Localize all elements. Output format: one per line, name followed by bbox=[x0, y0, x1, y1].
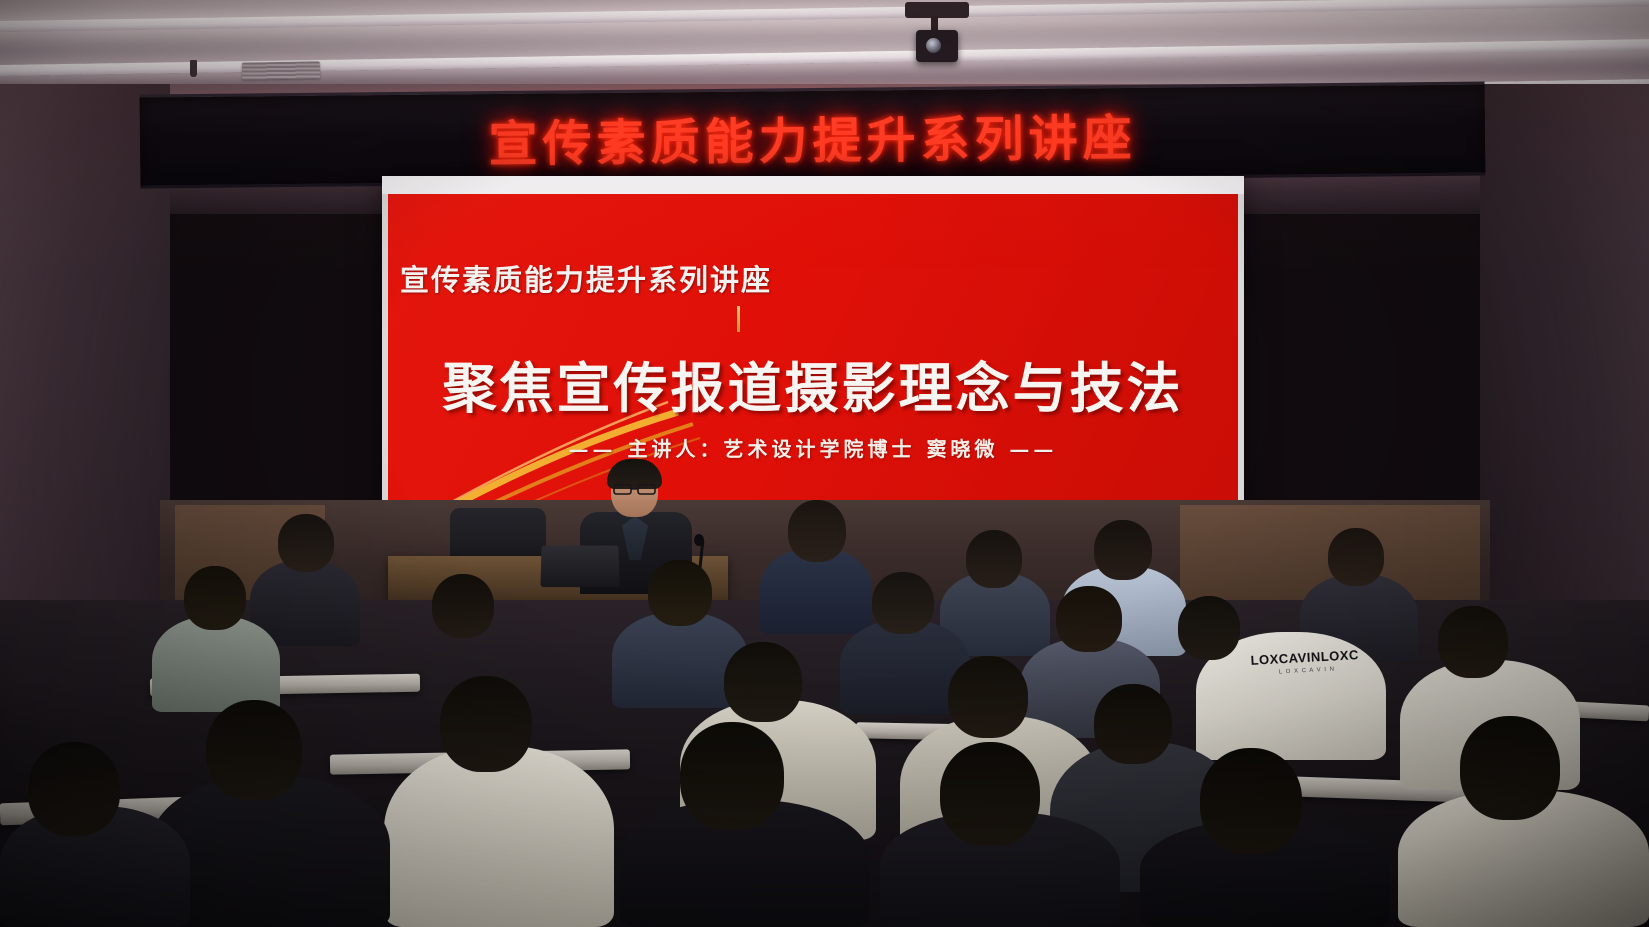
slide-divider bbox=[737, 306, 740, 332]
slide-title: 聚焦宣传报道摄影理念与技法 bbox=[388, 344, 1238, 423]
slide-presenter-line: —— 主讲人：艺术设计学院博士 窦晓微 —— bbox=[388, 433, 1238, 462]
screen-top-band bbox=[382, 176, 1244, 194]
microphone-icon bbox=[694, 534, 704, 546]
presenter-glasses-icon bbox=[613, 484, 656, 495]
lecture-hall-photo: 宣传素质能力提升系列讲座 宣传素质能力提升系列讲座 聚焦宣传报道摄影理念与技法 … bbox=[0, 0, 1649, 927]
ceiling-speaker bbox=[190, 60, 197, 77]
projection-screen: 宣传素质能力提升系列讲座 聚焦宣传报道摄影理念与技法 —— 主讲人：艺术设计学院… bbox=[382, 176, 1244, 544]
led-banner-text: 宣传素质能力提升系列讲座 bbox=[140, 96, 1486, 180]
right-wall bbox=[1480, 84, 1649, 624]
ceiling-projector bbox=[916, 30, 958, 62]
ceiling-vent bbox=[242, 61, 320, 79]
led-banner: 宣传素质能力提升系列讲座 bbox=[140, 82, 1486, 189]
slide-subtitle: 宣传素质能力提升系列讲座 bbox=[400, 257, 1238, 299]
presenter-laptop bbox=[540, 546, 619, 588]
presentation-slide: 宣传素质能力提升系列讲座 聚焦宣传报道摄影理念与技法 —— 主讲人：艺术设计学院… bbox=[388, 194, 1238, 512]
ceiling-light-strip bbox=[0, 0, 1649, 33]
projector-lens-icon bbox=[926, 38, 941, 53]
